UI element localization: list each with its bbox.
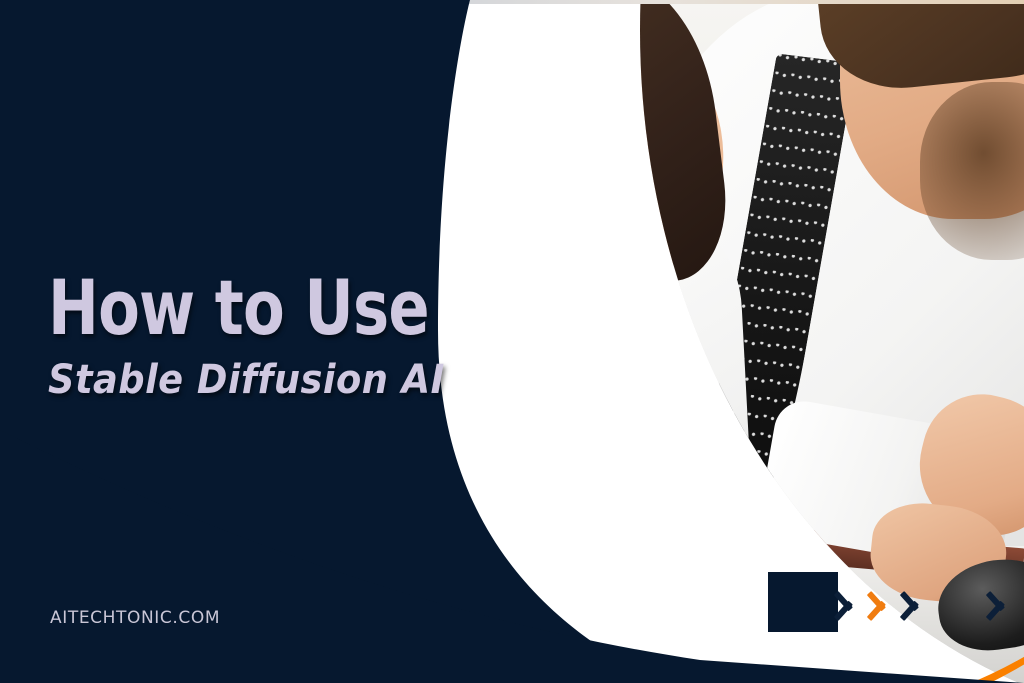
- bottom-navy-notch: [768, 572, 838, 632]
- chevron-left-3-icon: [902, 582, 922, 624]
- title-block: How to Use Stable Diffusion AI: [48, 272, 518, 400]
- blog-banner: How to Use Stable Diffusion AI AITECHTON…: [0, 0, 1024, 683]
- site-url-label: AITECHTONIC.COM: [50, 608, 220, 628]
- chevron-group: [836, 582, 1024, 634]
- top-accent-strip: [410, 0, 1024, 4]
- page-title: How to Use: [48, 272, 424, 344]
- chevron-left-1-icon: [836, 582, 856, 624]
- page-subtitle: Stable Diffusion AI: [48, 360, 480, 400]
- chevron-left-2-icon: [869, 582, 889, 624]
- chevron-left-4-icon: [988, 582, 1008, 624]
